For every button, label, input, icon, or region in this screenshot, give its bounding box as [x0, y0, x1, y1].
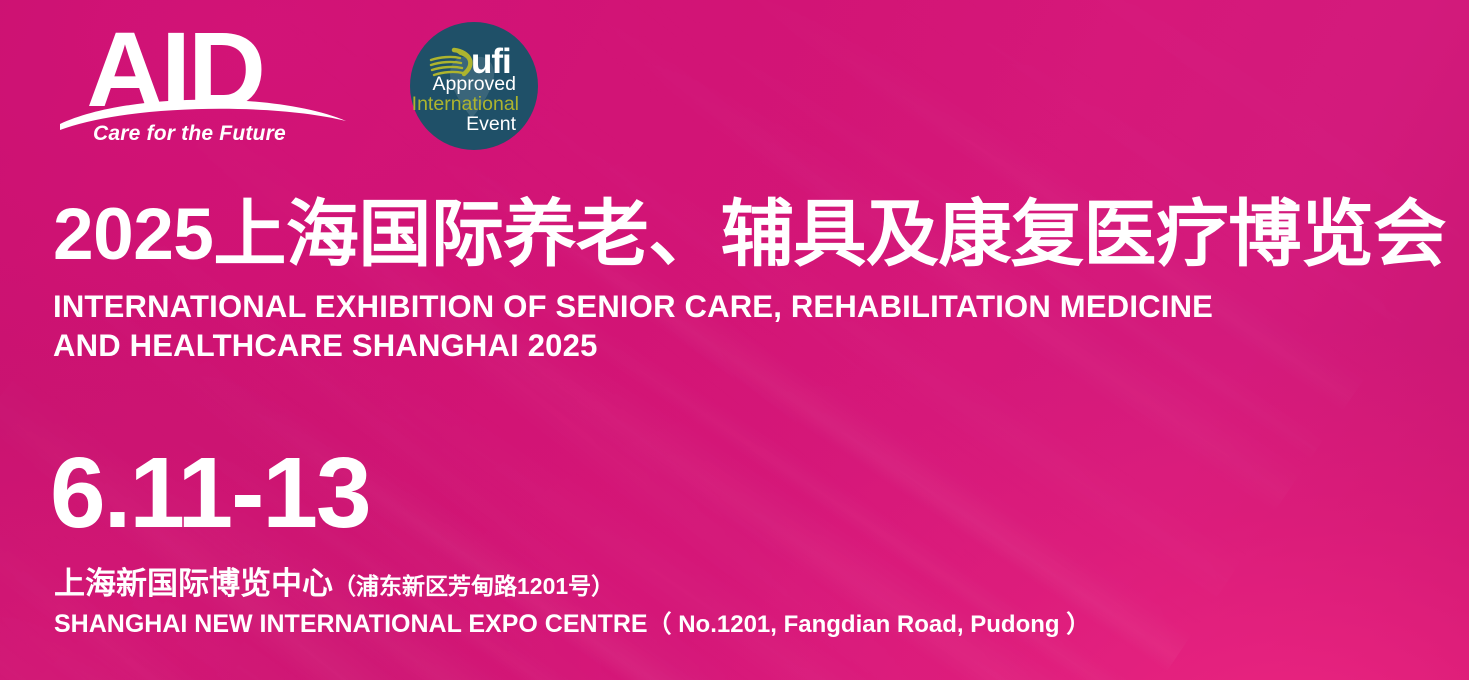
event-title-english: INTERNATIONAL EXHIBITION OF SENIOR CARE,… [53, 287, 1433, 364]
venue-block: 上海新国际博览中心（浦东新区芳甸路1201号） SHANGHAI NEW INT… [54, 566, 1394, 639]
logo-area: AID Care for the Future [58, 14, 618, 144]
venue-chinese-address: （浦东新区芳甸路1201号） [333, 573, 614, 599]
title-block: 2025上海国际养老、辅具及康复医疗博览会 INTERNATIONAL EXHI… [53, 196, 1433, 364]
ufi-badge: ufi Approved International Event [410, 22, 538, 150]
venue-english-address: （ No.1201, Fangdian Road, Pudong ） [648, 611, 1091, 638]
event-date: 6.11-13 [50, 443, 370, 543]
aid-tagline: Care for the Future [93, 122, 353, 146]
ufi-approved-event-badge-icon: ufi Approved International Event [410, 22, 538, 150]
event-banner: AID Care for the Future [0, 0, 1469, 680]
venue-english-name: SHANGHAI NEW INTERNATIONAL EXPO CENTRE [54, 610, 648, 638]
aid-logo: AID Care for the Future [58, 14, 348, 144]
event-title-english-line1: INTERNATIONAL EXHIBITION OF SENIOR CARE,… [53, 287, 1412, 325]
venue-chinese-name: 上海新国际博览中心 [54, 566, 333, 601]
venue-english: SHANGHAI NEW INTERNATIONAL EXPO CENTRE（ … [54, 610, 1394, 640]
ufi-line3-text: Event [466, 113, 516, 135]
ufi-line1-text: Approved [433, 73, 516, 95]
venue-chinese: 上海新国际博览中心（浦东新区芳甸路1201号） [54, 566, 1394, 603]
event-title-english-line2: AND HEALTHCARE SHANGHAI 2025 [53, 326, 1412, 364]
ufi-line2-text: International [412, 93, 519, 115]
event-title-chinese: 2025上海国际养老、辅具及康复医疗博览会 [53, 196, 1433, 273]
